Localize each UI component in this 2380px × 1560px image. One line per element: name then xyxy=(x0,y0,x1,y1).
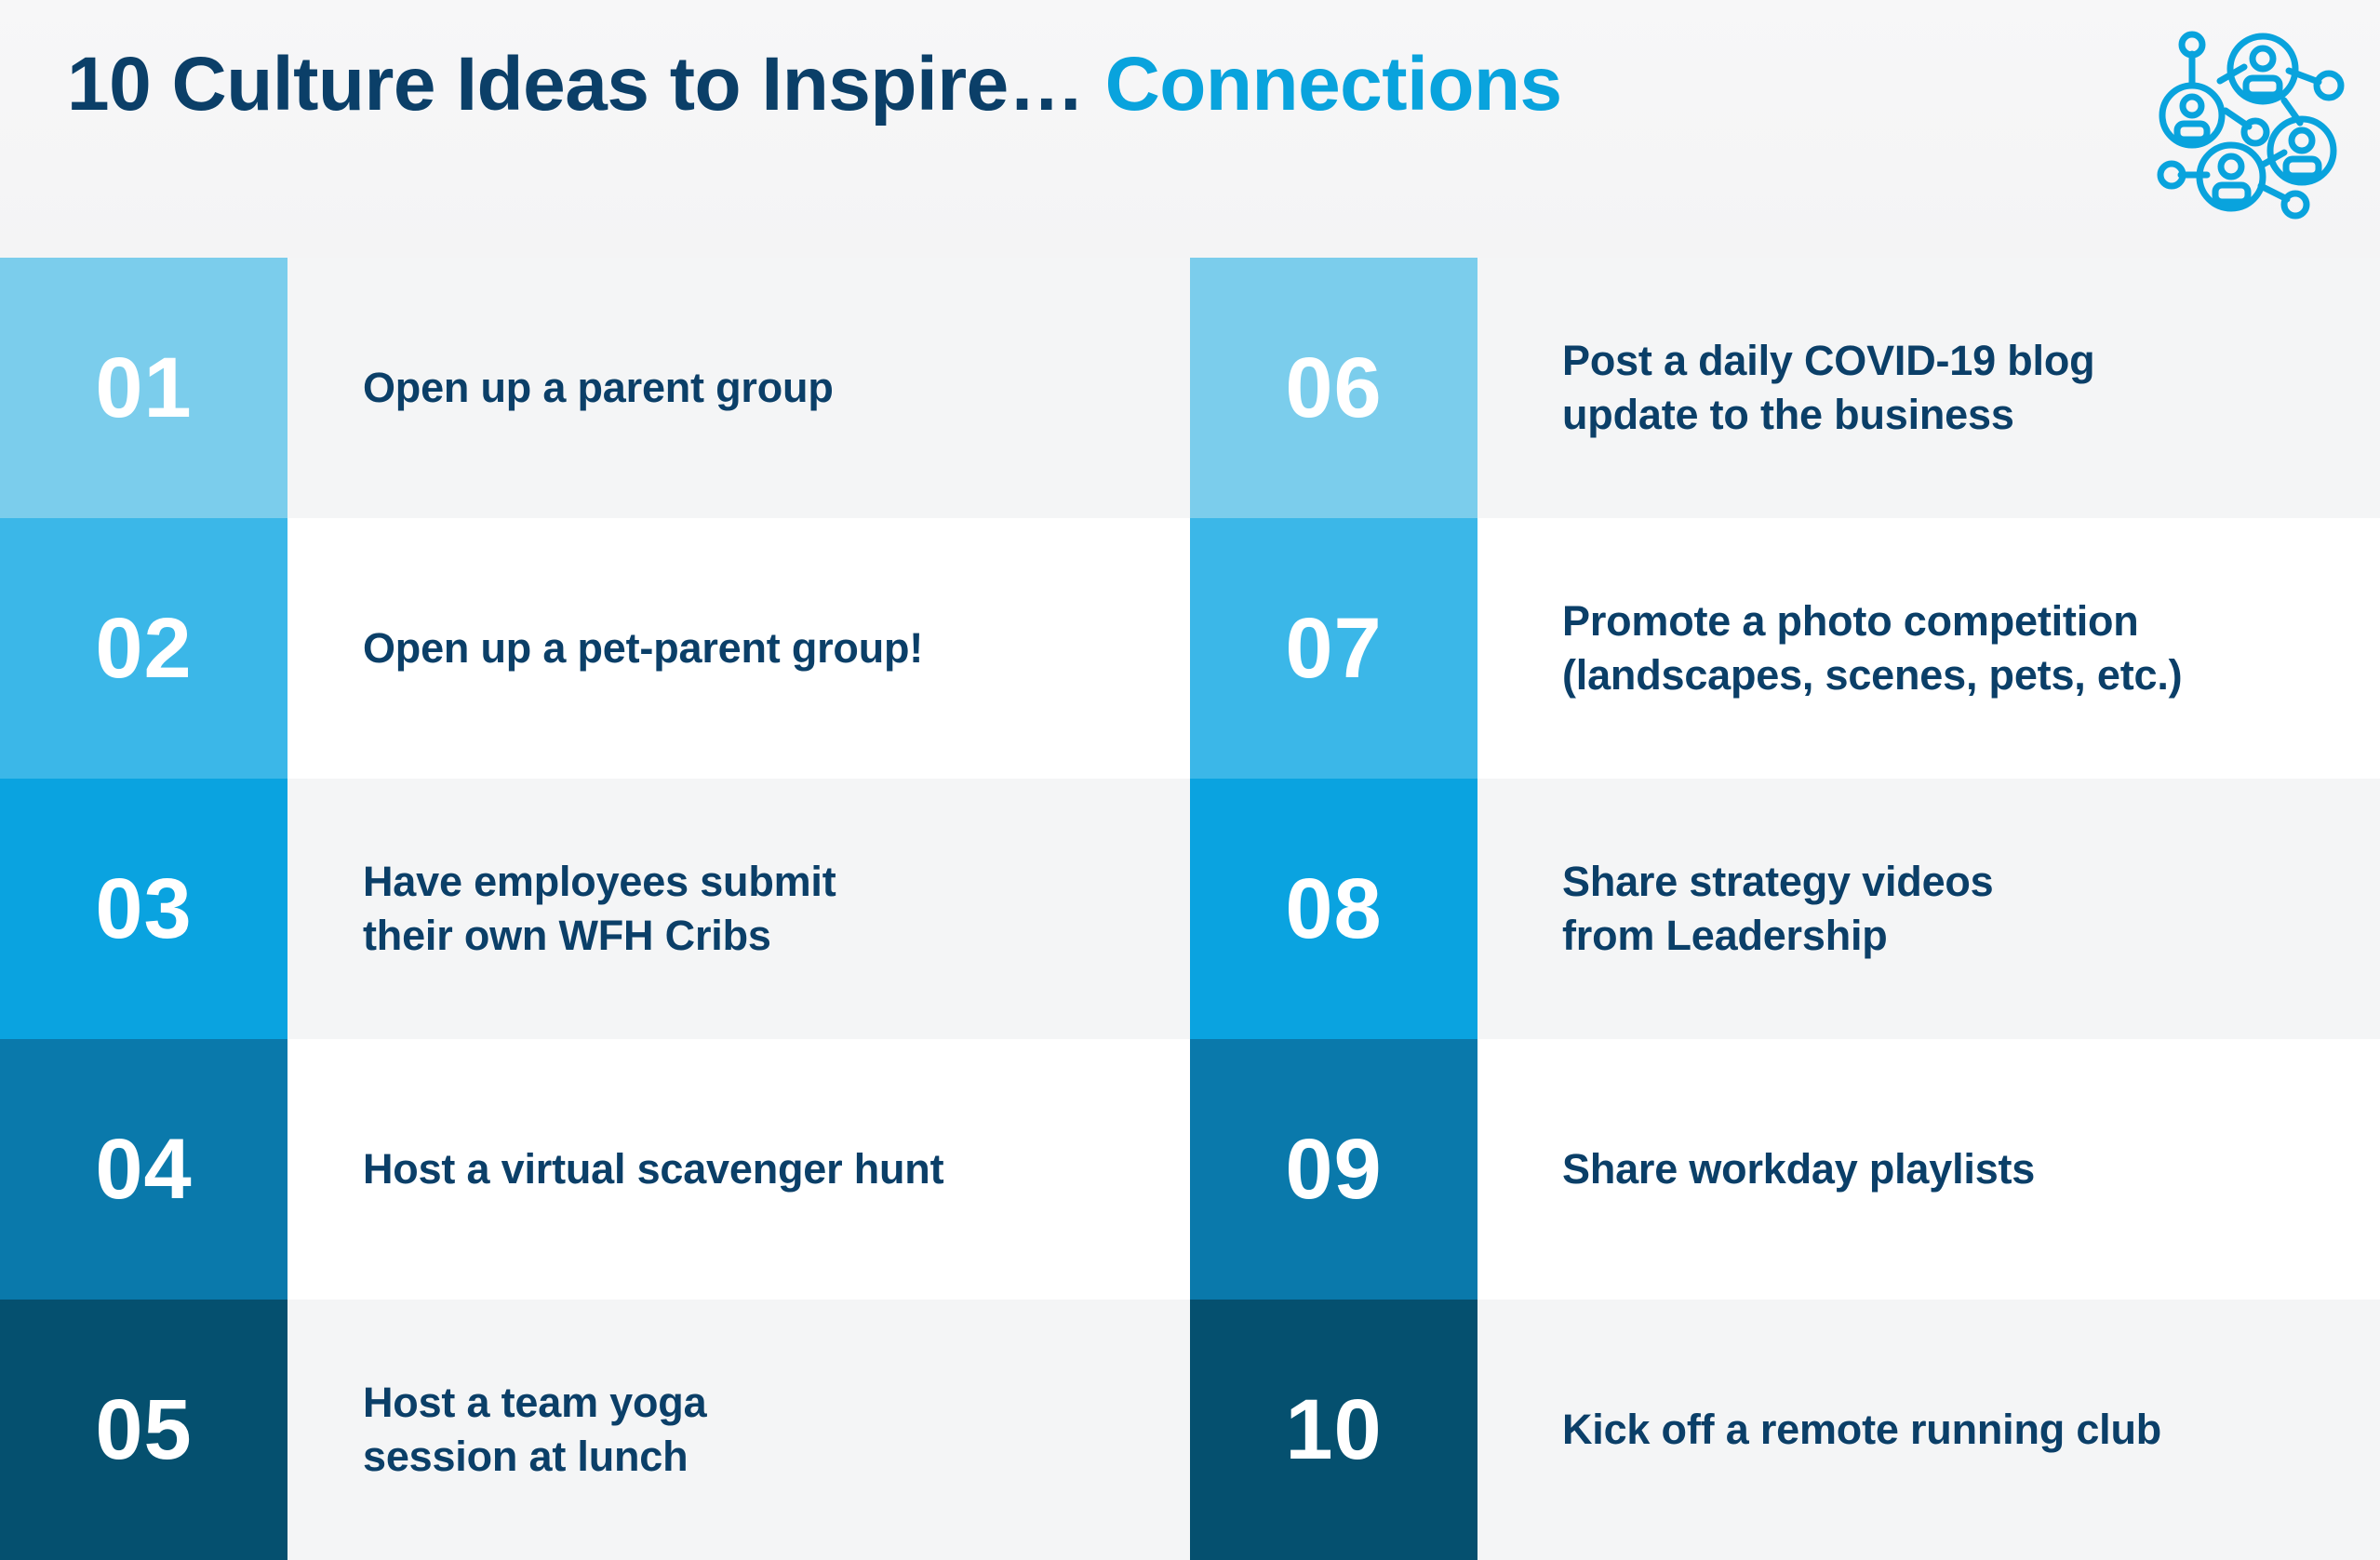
infographic-page: 10 Culture Ideas to Inspire… Connections xyxy=(0,0,2380,1560)
idea-text-line: update to the business xyxy=(1562,388,2094,442)
idea-text-line: from Leadership xyxy=(1562,909,1994,963)
idea-text-01: Open up a parent group xyxy=(363,258,1144,518)
idea-number-block-09: 09 xyxy=(1190,1039,1477,1300)
idea-number-block-10: 10 xyxy=(1190,1300,1477,1560)
ideas-grid: 01 Open up a parent group 06 Post a dail… xyxy=(0,258,2380,1560)
idea-text-line: Post a daily COVID-19 blog xyxy=(1562,334,2094,388)
idea-text-line: Share workday playlists xyxy=(1562,1142,2035,1196)
idea-card-01[interactable]: 01 Open up a parent group xyxy=(0,258,1190,518)
idea-card-02[interactable]: 02 Open up a pet-parent group! xyxy=(0,518,1190,779)
idea-number-10: 10 xyxy=(1285,1387,1382,1473)
grid-row: 02 Open up a pet-parent group! 07 Promot… xyxy=(0,518,2380,779)
idea-card-10[interactable]: 10 Kick off a remote running club xyxy=(1190,1300,2380,1560)
idea-number-06: 06 xyxy=(1285,345,1382,431)
idea-text-04: Host a virtual scavenger hunt xyxy=(363,1039,1144,1300)
idea-text-03: Have employees submit their own WFH Crib… xyxy=(363,779,1144,1039)
idea-number-09: 09 xyxy=(1285,1127,1382,1212)
idea-number-block-01: 01 xyxy=(0,258,287,518)
idea-number-block-03: 03 xyxy=(0,779,287,1039)
idea-text-05: Host a team yoga session at lunch xyxy=(363,1300,1144,1560)
idea-text-line: session at lunch xyxy=(363,1430,706,1484)
idea-number-05: 05 xyxy=(95,1387,192,1473)
idea-number-07: 07 xyxy=(1285,606,1382,691)
idea-number-block-02: 02 xyxy=(0,518,287,779)
idea-text-line: (landscapes, scenes, pets, etc.) xyxy=(1562,648,2182,702)
idea-card-08[interactable]: 08 Share strategy videos from Leadership xyxy=(1190,779,2380,1039)
page-title: 10 Culture Ideas to Inspire… Connections xyxy=(67,47,1562,123)
idea-text-10: Kick off a remote running club xyxy=(1562,1300,2353,1560)
idea-text-line: Promote a photo competition xyxy=(1562,594,2182,648)
idea-number-block-07: 07 xyxy=(1190,518,1477,779)
idea-number-block-06: 06 xyxy=(1190,258,1477,518)
idea-card-06[interactable]: 06 Post a daily COVID-19 blog update to … xyxy=(1190,258,2380,518)
idea-number-02: 02 xyxy=(95,606,192,691)
idea-text-line: Open up a parent group xyxy=(363,361,834,415)
grid-row: 01 Open up a parent group 06 Post a dail… xyxy=(0,258,2380,518)
page-title-main: 10 Culture Ideas to Inspire… xyxy=(67,42,1084,127)
idea-number-01: 01 xyxy=(95,345,192,431)
idea-number-block-04: 04 xyxy=(0,1039,287,1300)
idea-text-08: Share strategy videos from Leadership xyxy=(1562,779,2353,1039)
idea-number-block-08: 08 xyxy=(1190,779,1477,1039)
idea-card-09[interactable]: 09 Share workday playlists xyxy=(1190,1039,2380,1300)
idea-text-line: Open up a pet-parent group! xyxy=(363,621,923,675)
idea-number-block-05: 05 xyxy=(0,1300,287,1560)
idea-text-02: Open up a pet-parent group! xyxy=(363,518,1144,779)
idea-number-03: 03 xyxy=(95,866,192,952)
idea-card-07[interactable]: 07 Promote a photo competition (landscap… xyxy=(1190,518,2380,779)
idea-text-line: Kick off a remote running club xyxy=(1562,1403,2161,1457)
idea-number-04: 04 xyxy=(95,1127,192,1212)
idea-text-line: Share strategy videos xyxy=(1562,855,1994,909)
grid-row: 03 Have employees submit their own WFH C… xyxy=(0,779,2380,1039)
idea-card-05[interactable]: 05 Host a team yoga session at lunch xyxy=(0,1300,1190,1560)
idea-card-03[interactable]: 03 Have employees submit their own WFH C… xyxy=(0,779,1190,1039)
idea-card-04[interactable]: 04 Host a virtual scavenger hunt xyxy=(0,1039,1190,1300)
idea-text-09: Share workday playlists xyxy=(1562,1039,2353,1300)
idea-text-07: Promote a photo competition (landscapes,… xyxy=(1562,518,2353,779)
idea-text-06: Post a daily COVID-19 blog update to the… xyxy=(1562,258,2353,518)
grid-row: 04 Host a virtual scavenger hunt 09 Shar… xyxy=(0,1039,2380,1300)
page-title-accent: Connections xyxy=(1105,42,1562,127)
idea-number-08: 08 xyxy=(1285,866,1382,952)
network-connections-icon xyxy=(2140,13,2365,225)
header-banner: 10 Culture Ideas to Inspire… Connections xyxy=(0,0,2380,258)
idea-text-line: Host a virtual scavenger hunt xyxy=(363,1142,943,1196)
idea-text-line: their own WFH Cribs xyxy=(363,909,836,963)
idea-text-line: Host a team yoga xyxy=(363,1376,706,1430)
idea-text-line: Have employees submit xyxy=(363,855,836,909)
grid-row: 05 Host a team yoga session at lunch 10 … xyxy=(0,1300,2380,1560)
